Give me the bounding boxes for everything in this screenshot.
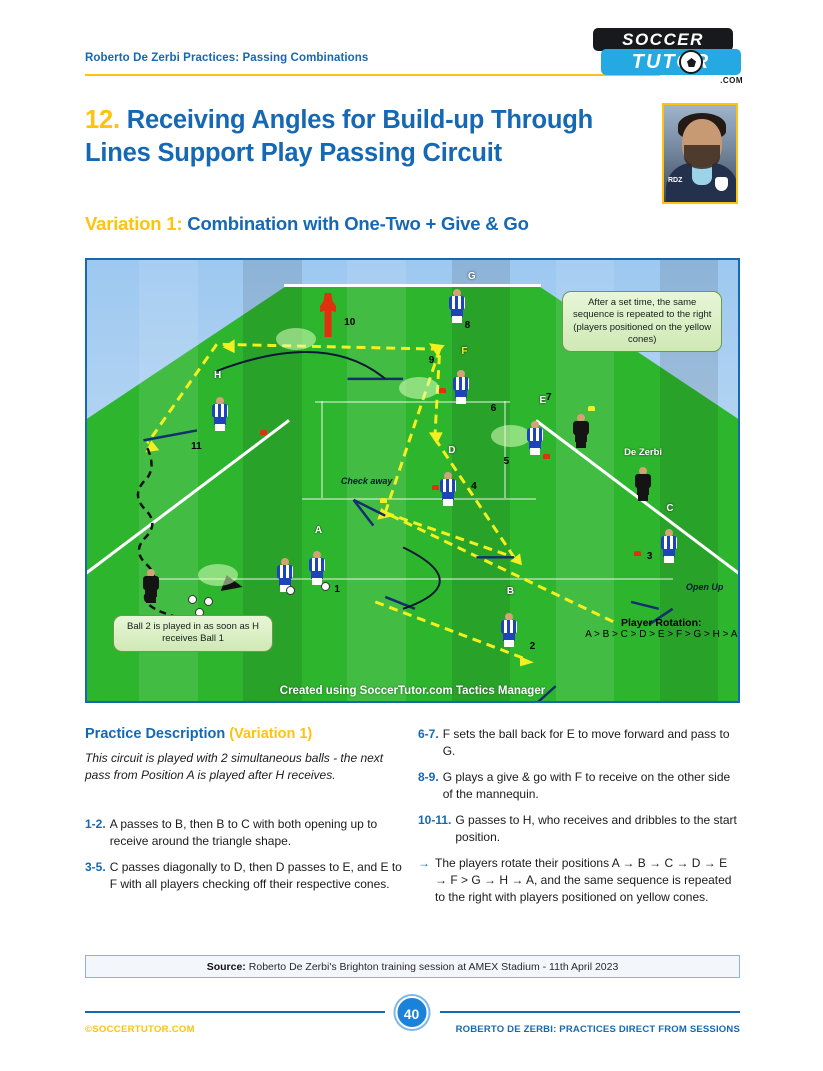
callout-top: After a set time, the same sequence is r… [562, 291, 722, 352]
soccertutor-logo: SOCCER TUTOR .COM [587, 28, 745, 80]
source-text: Roberto De Zerbi's Brighton training ses… [249, 961, 619, 973]
step-text: F sets the ball back for E to move forwa… [443, 726, 740, 760]
footer-divider-right [440, 1011, 740, 1013]
player-label-c: C [666, 503, 673, 514]
footer-copyright: ©SOCCERTUTOR.COM [85, 1024, 195, 1035]
pass-number-1: 1 [334, 584, 340, 595]
list-item: 6-7. F sets the ball back for E to move … [418, 726, 740, 760]
header-divider [85, 74, 660, 76]
player-b [500, 613, 518, 647]
arrow-icon: → [418, 855, 430, 906]
variation-heading: Variation 1: Combination with One-Two + … [85, 213, 645, 235]
note-check-away: Check away [341, 476, 393, 486]
pass-number-5: 5 [504, 456, 510, 467]
soccer-ball-icon [679, 50, 703, 74]
pass-number-10: 10 [344, 317, 355, 328]
pass-number-6: 6 [491, 403, 497, 414]
pass-number-9: 9 [429, 355, 435, 366]
step-text: G plays a give & go with F to receive on… [443, 769, 740, 803]
desc-heading-text: Practice Description [85, 726, 225, 742]
server-figure [142, 569, 160, 603]
document-page: Roberto De Zerbi Practices: Passing Comb… [0, 0, 823, 1071]
player-label-a: A [315, 525, 322, 536]
breadcrumb: Roberto De Zerbi Practices: Passing Comb… [85, 52, 368, 64]
step-text: A passes to B, then B to C with both ope… [110, 816, 410, 850]
desc-heading-variation: (Variation 1) [229, 726, 312, 742]
logo-line-soccer: SOCCER [593, 28, 733, 51]
player-d [439, 472, 457, 506]
player-rotation: Player Rotation: A > B > C > D > E > F >… [569, 617, 740, 640]
cone-red [634, 551, 641, 556]
variation-label: Variation 1: [85, 213, 182, 234]
player-label-f: F [461, 346, 467, 357]
coach-beard [684, 145, 720, 169]
player-c [660, 529, 678, 563]
page-number-badge: 40 [395, 996, 428, 1029]
cone-yellow [588, 406, 595, 411]
practice-intro: This circuit is played with 2 simultaneo… [85, 750, 405, 784]
footer-series-title: ROBERTO DE ZERBI: PRACTICES DIRECT FROM … [456, 1024, 740, 1035]
pass-number-8: 8 [465, 320, 471, 331]
list-item: → The players rotate their positions A →… [418, 855, 740, 906]
list-item: 3-5. C passes diagonally to D, then D pa… [85, 859, 410, 893]
source-bar: Source: Roberto De Zerbi's Brighton trai… [85, 955, 740, 978]
cone-red [439, 388, 446, 393]
player-label-g: G [468, 271, 476, 282]
step-number: 10-11. [418, 812, 451, 846]
pass-number-2: 2 [530, 641, 536, 652]
coach-portrait: RDZ [662, 103, 738, 204]
pass-number-3: 3 [647, 551, 653, 562]
variation-text: Combination with One-Two + Give & Go [187, 213, 528, 234]
logo-domain: .COM [720, 76, 743, 85]
coach-name-label: De Zerbi [624, 447, 662, 458]
page-title: 12. Receiving Angles for Build-up Throug… [85, 104, 645, 169]
player-a [308, 551, 326, 585]
cone-red [432, 485, 439, 490]
pass-number-7: 7 [546, 392, 552, 403]
target-zone [399, 377, 439, 399]
callout-bottom: Ball 2 is played in as soon as H receive… [113, 615, 273, 652]
rotation-sequence: A > B > C > D > E > F > G > H > A [585, 629, 737, 640]
steps-column-left: 1-2. A passes to B, then B to C with bot… [85, 816, 410, 902]
step-number: 3-5. [85, 859, 106, 893]
practice-description-heading: Practice Description (Variation 1) [85, 726, 312, 742]
target-zone [198, 564, 238, 586]
tactics-diagram: G F E D H A B C [85, 258, 740, 703]
player-label-d: D [448, 445, 455, 456]
footer-divider-left [85, 1011, 385, 1013]
tactics-manager-credit: Created using SoccerTutor.com Tactics Ma… [87, 685, 738, 697]
step-text: C passes diagonally to D, then D passes … [110, 859, 410, 893]
title-text: Receiving Angles for Build-up Through Li… [85, 106, 593, 167]
cone-red [543, 454, 550, 459]
steps-column-right: 6-7. F sets the ball back for E to move … [418, 726, 740, 915]
step-text: G passes to H, who receives and dribbles… [455, 812, 740, 846]
rotation-title: Player Rotation: [621, 617, 702, 629]
coach-figure [634, 467, 652, 501]
list-item: 10-11. G passes to H, who receives and d… [418, 812, 740, 846]
logo-line-tutor: TUTOR [601, 49, 741, 75]
player-g [448, 289, 466, 323]
ball-pile [188, 595, 197, 604]
pass-number-11: 11 [191, 441, 202, 452]
step-number: 1-2. [85, 816, 106, 850]
coach-badge-text: RDZ [668, 177, 682, 184]
step-text: The players rotate their positions A → B… [435, 855, 740, 906]
ball [286, 586, 295, 595]
step-number: 6-7. [418, 726, 439, 760]
source-label: Source: [207, 961, 246, 973]
player-e [526, 421, 544, 455]
pass-number-4: 4 [471, 481, 477, 492]
cone-red [260, 430, 267, 435]
player-h [211, 397, 229, 431]
player-label-h: H [214, 370, 221, 381]
list-item: 8-9. G plays a give & go with F to recei… [418, 769, 740, 803]
step-number: 8-9. [418, 769, 439, 803]
player-f [452, 370, 470, 404]
defender-dark [572, 414, 590, 448]
cone-yellow [380, 498, 387, 503]
title-number: 12. [85, 106, 120, 134]
player-label-b: B [507, 586, 514, 597]
note-open-up: Open Up [686, 582, 724, 592]
club-crest-icon [715, 177, 728, 191]
list-item: 1-2. A passes to B, then B to C with bot… [85, 816, 410, 850]
